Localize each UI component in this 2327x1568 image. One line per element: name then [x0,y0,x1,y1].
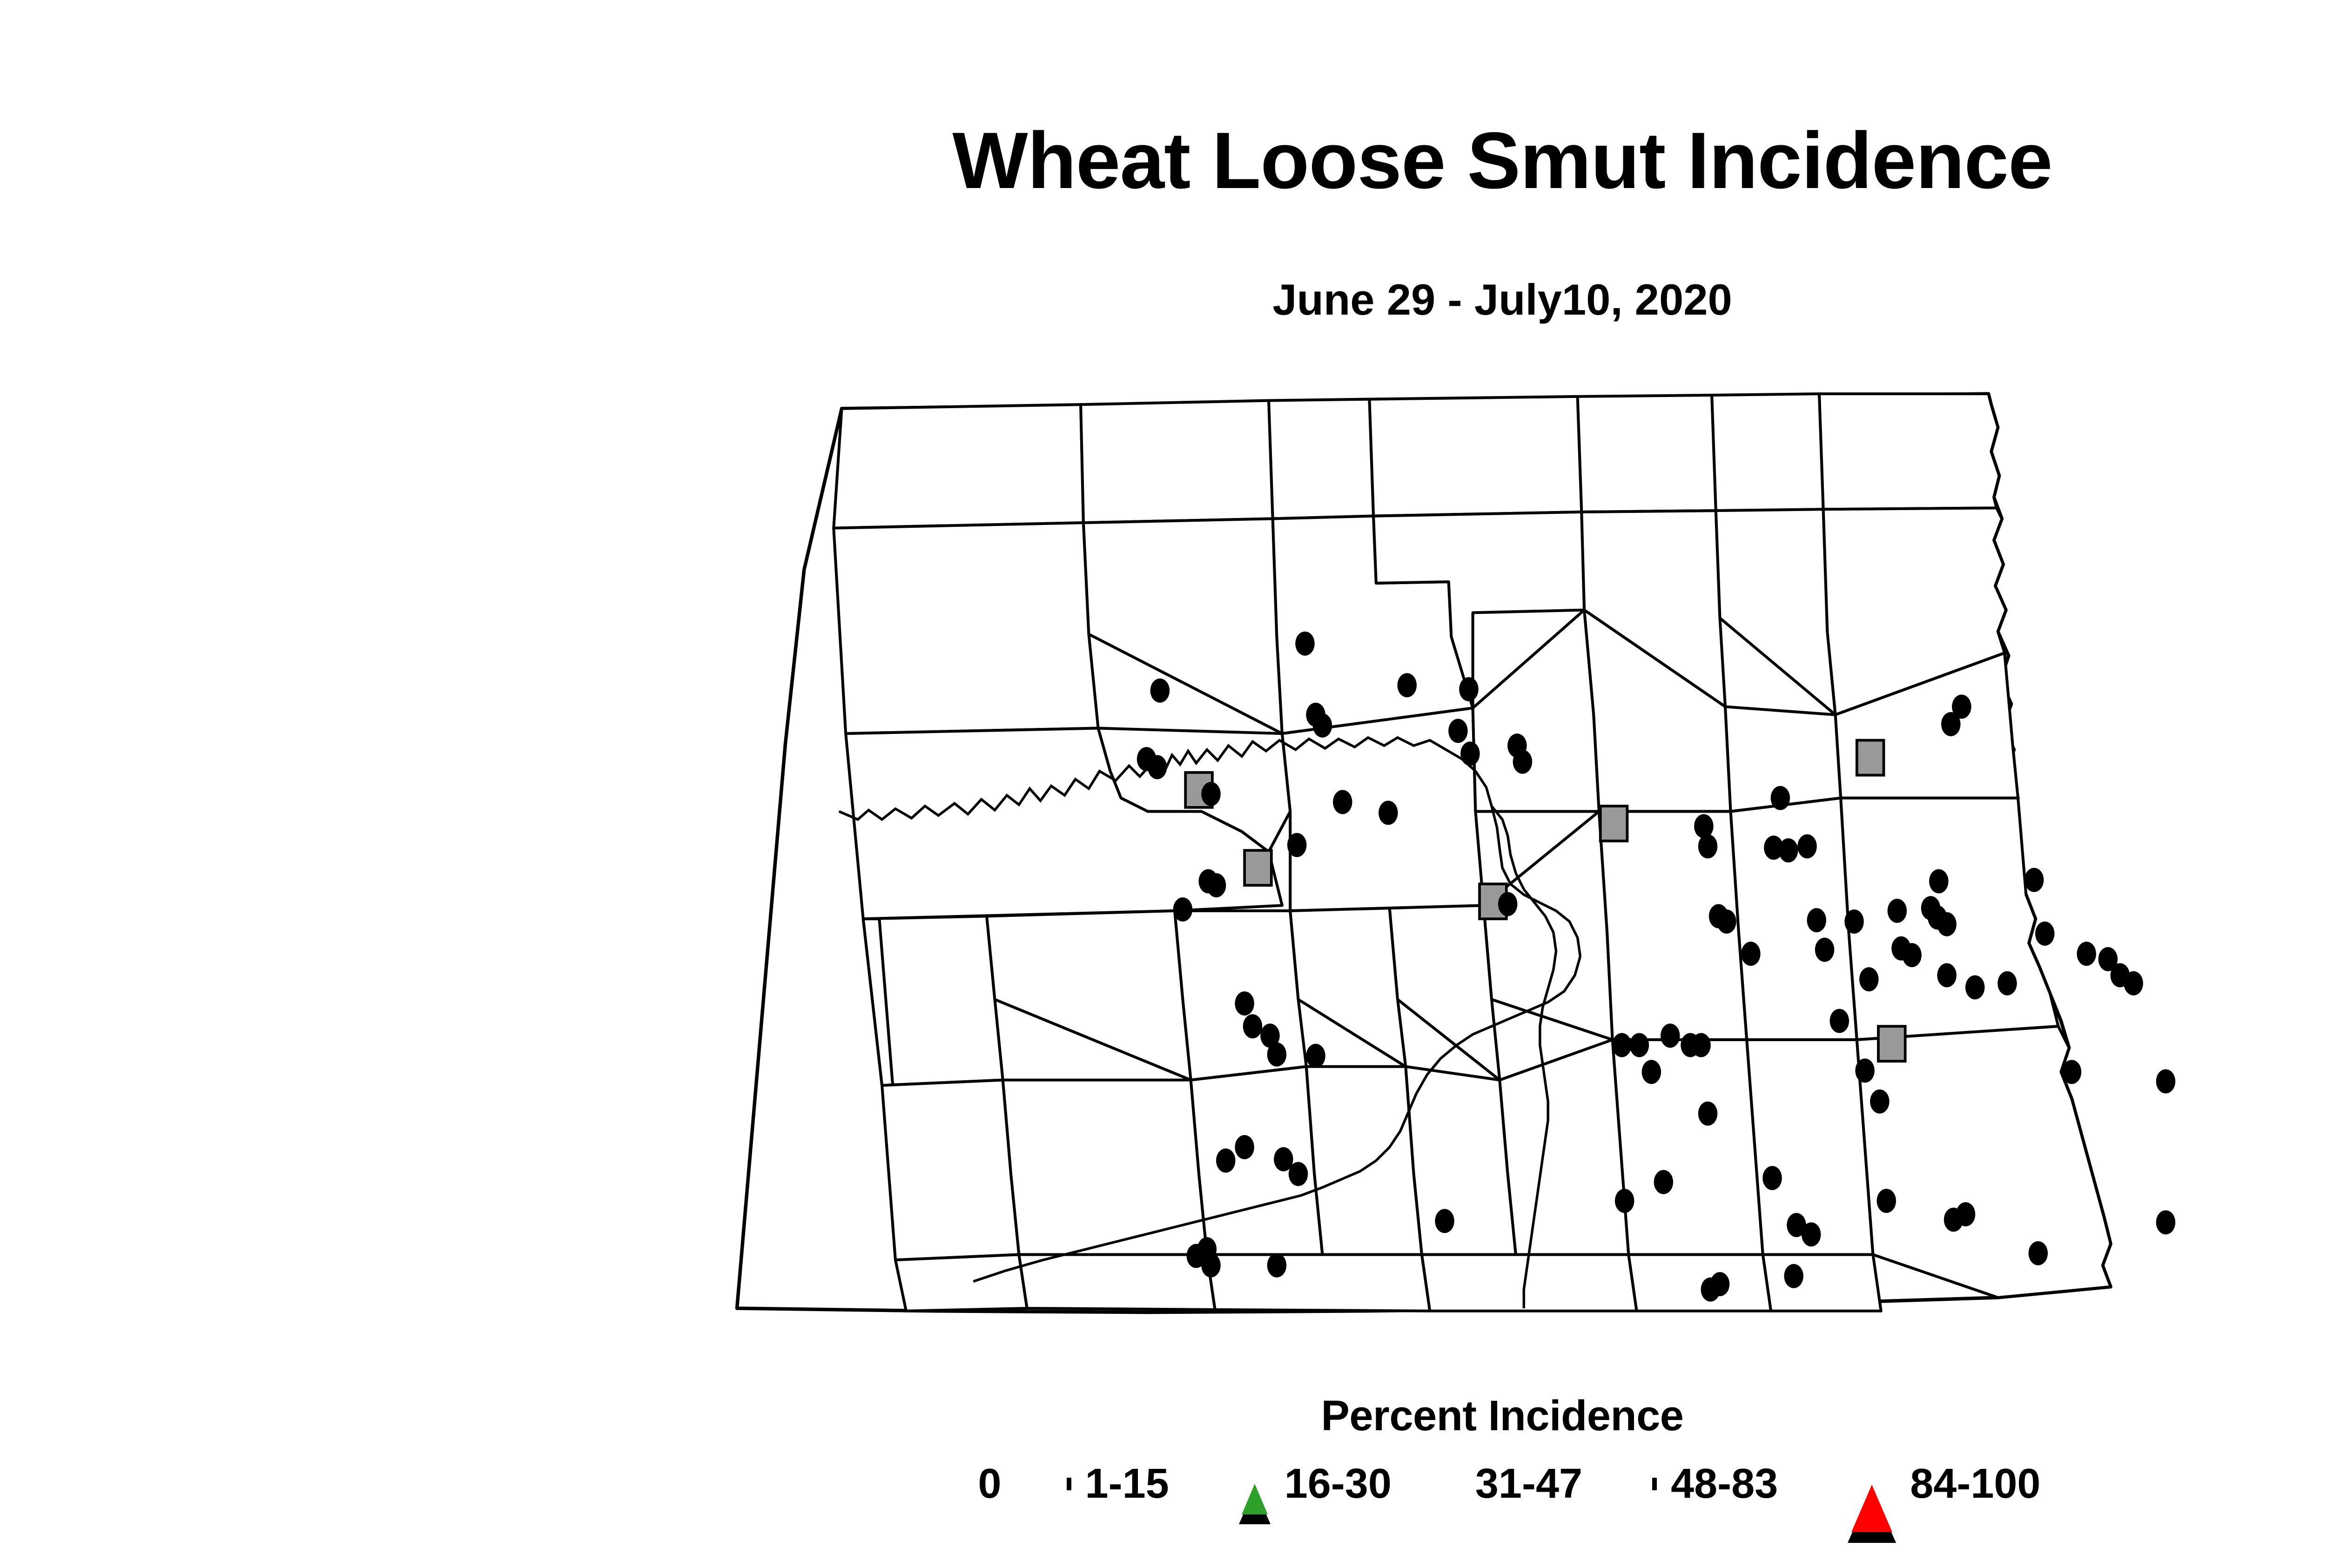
map-point-zero [1612,1033,1632,1057]
map-point-zero [1306,1044,1325,1068]
legend-label-1-15: 1-15 [1085,1460,1169,1508]
county-logan [1500,1040,1628,1255]
map-point-zero [1807,908,1826,932]
county-rolette [1578,395,1716,512]
map-point-zero [1717,909,1736,934]
county-lamoure [1613,1040,1763,1255]
county-divide [834,404,1083,528]
legend-items: 01-1516-3031-4748-8384-100 [0,1460,2327,1508]
map-point-zero [2062,1060,2082,1084]
yellow-square-icon-glyph [1652,1478,1657,1490]
map-point-zero [1235,991,1254,1016]
county-towner [1712,394,1823,511]
red-triangle-icon [1848,1480,1896,1488]
legend-item-31-47: 31-47 [1461,1460,1582,1508]
map-point-zero [1642,1060,1661,1084]
map-point-zero [2124,971,2143,996]
map-point-zero [1855,1058,1875,1083]
yellow-square-icon [1652,1480,1657,1488]
map-point-zero [1701,1278,1721,1302]
page-title: Wheat Loose Smut Incidence [0,119,2327,203]
map-point-zero [1797,834,1817,858]
map-point-zero [1937,963,1957,987]
map-point-zero [2156,1210,2176,1234]
map-legend: Percent Incidence 01-1516-3031-4748-8384… [0,1392,2327,1508]
county-boundaries-layer [737,394,2111,1312]
county-emmons-south [1422,1255,1637,1311]
map-point-zero [1965,975,1985,999]
map-point-zero [1661,1023,1680,1048]
map-point-zero [2077,942,2096,966]
county-hettinger [1003,1080,1207,1254]
county-williams [834,523,1098,734]
map-point-zero [1216,1149,1236,1173]
map-point-zero [1615,1189,1634,1213]
county-ransom [1747,1040,1873,1255]
map-point-zero [2035,922,2055,946]
county-burke [1081,401,1273,523]
map-point-zero [1830,1009,1849,1033]
legend-item-0: 0 [964,1460,1001,1508]
map-point-zero [1997,971,2017,996]
map-point-zero [1498,892,1518,916]
map-point-zero [1448,719,1468,743]
map-point-zero [1397,673,1417,697]
legend-label-0: 0 [978,1460,1001,1508]
map-point-zero [1698,834,1718,858]
page-subtitle: June 29 - July10, 2020 [0,275,2327,325]
map-point-zero [1654,1170,1674,1194]
map-point-1-15 [1878,1026,1905,1061]
map-point-zero [1243,1014,1263,1038]
gray-square-icon [1067,1480,1071,1488]
map-point-zero [1513,750,1533,774]
map-point-zero [1902,943,1922,967]
map-svg [638,354,2276,1350]
map-point-zero [1956,1202,1976,1226]
map-point-zero [1333,790,1352,814]
map-point-zero [1859,967,1879,991]
county-sioux [1207,1255,1430,1311]
map-point-zero [1148,755,1167,779]
county-emmons [1406,1067,1516,1255]
map-point-zero [1460,741,1480,766]
map-point-zero [1815,938,1835,962]
map-point-zero [1698,1102,1718,1126]
county-bowman [895,1255,1027,1311]
map-point-zero [1741,942,1761,966]
map-point-zero [2156,1069,2176,1093]
map-point-zero [1287,833,1307,857]
legend-item-1-15: 1-15 [1067,1460,1169,1508]
map-point-zero [1870,1090,1890,1114]
map-point-zero [1929,869,1949,894]
map-point-zero [1630,1033,1649,1057]
map-point-zero [1941,712,1961,736]
map-point-zero [1289,1162,1308,1186]
legend-label-48-83: 48-83 [1671,1460,1778,1508]
map-point-1-15 [1601,806,1628,841]
map-point-1-15 [1857,740,1884,775]
map-point-zero [1201,1253,1221,1278]
map-point-zero [1771,786,1790,810]
county-dickey [1628,1255,1771,1311]
map-point-zero [1784,1264,1803,1288]
map-point-zero [2024,868,2044,892]
map-point-zero [1295,632,1315,656]
map-point-zero [1691,1033,1711,1057]
county-morton [1306,1067,1422,1255]
county-slope [882,1080,1019,1260]
map-point-zero [1150,679,1170,703]
county-grant [1191,1067,1323,1255]
legend-item-84-100: 84-100 [1848,1460,2040,1508]
legend-item-16-30: 16-30 [1239,1460,1392,1508]
map-point-zero [1779,838,1798,862]
county-cavalier [1819,394,1999,509]
map-point-zero [1877,1189,1897,1213]
wheat-loose-smut-incidence-map-figure: Wheat Loose Smut Incidence June 29 - Jul… [0,0,2327,1568]
green-triangle-icon [1239,1480,1271,1488]
green-triangle-icon-glyph [1239,1480,1271,1524]
map-point-zero [1379,801,1398,825]
county-sargent [1763,1255,1881,1311]
map-point-1-15 [1244,850,1271,885]
map-point-zero [1235,1135,1254,1159]
county-barnes [1731,798,1857,1040]
county-bottineau [1369,397,1581,516]
map-point-zero [1207,873,1226,897]
map-point-zero [1201,782,1221,806]
county-renville [1269,399,1373,519]
map-point-zero [1937,912,1957,936]
legend-title: Percent Incidence [0,1392,2327,1440]
legend-label-31-47: 31-47 [1475,1460,1582,1508]
county-adams [1019,1255,1215,1310]
map-point-zero [1313,713,1332,738]
gray-square-icon-glyph [1067,1478,1071,1490]
map-point-zero [1267,1253,1287,1278]
map-point-zero [1888,899,1907,923]
legend-label-16-30: 16-30 [1285,1460,1392,1508]
map-point-zero [2029,1241,2048,1265]
map-point-zero [1435,1209,1454,1233]
map-point-zero [1802,1222,1821,1246]
legend-label-84-100: 84-100 [1910,1460,2040,1508]
map-point-zero [1844,909,1864,934]
map-point-zero [1173,897,1193,922]
map-point-zero [1267,1043,1287,1067]
map-point-zero [1762,1166,1782,1190]
red-triangle-icon-glyph [1848,1480,1896,1543]
legend-item-48-83: 48-83 [1652,1460,1778,1508]
map-point-zero [1459,677,1479,701]
north-dakota-county-map [638,354,2276,1350]
map-point-zero [1694,814,1714,838]
